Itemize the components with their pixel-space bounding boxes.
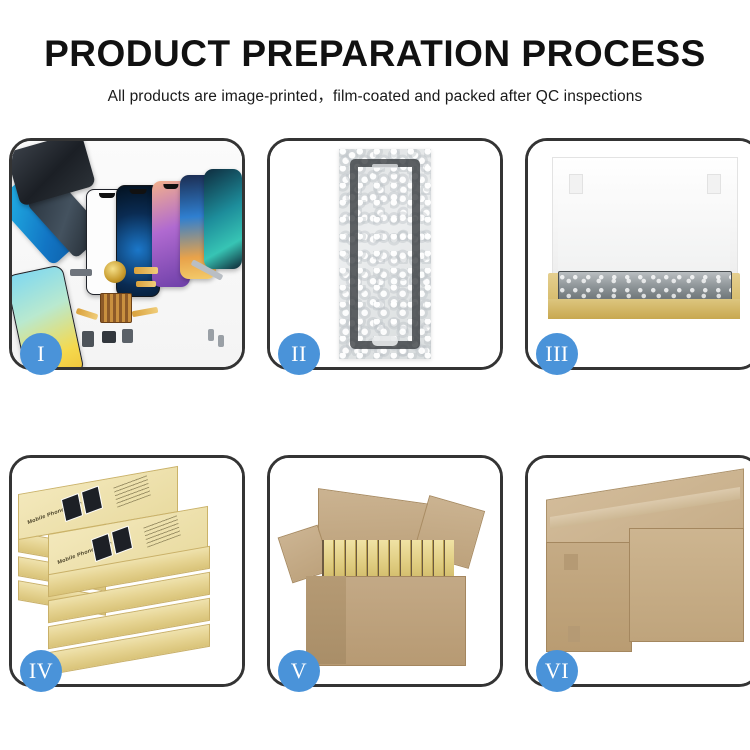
- foam-insert-icon: [558, 199, 730, 277]
- step-badge-5: V: [278, 650, 320, 692]
- screen-frame-icon: [350, 159, 420, 349]
- process-step-panel-4[interactable]: Mobile Phone Spare Parts Mobile Phone Sp…: [9, 455, 245, 687]
- camera-module-icon: [82, 331, 94, 347]
- earpiece-icon: [372, 164, 398, 168]
- bubble-wrapped-screen-icon: [339, 149, 431, 359]
- speaker-icon: [102, 331, 116, 343]
- flex-cable-icon: [136, 281, 156, 287]
- flex-cable-icon: [132, 307, 159, 317]
- box-product-photo-icon: [91, 533, 113, 562]
- box-spec-text-icon: [113, 474, 151, 507]
- screw-icon: [218, 335, 224, 347]
- process-step-panel-3[interactable]: III: [525, 138, 750, 370]
- packed-screen-icon: [558, 271, 732, 301]
- lid-tab-right-icon: [707, 174, 721, 194]
- page-title: PRODUCT PREPARATION PROCESS: [0, 34, 750, 75]
- step-badge-4: IV: [20, 650, 62, 692]
- carton-front-icon: [546, 542, 632, 652]
- notch-icon: [130, 189, 147, 194]
- kraft-box-front-icon: [548, 299, 740, 319]
- process-step-panel-6[interactable]: VI: [525, 455, 750, 687]
- flex-cable-icon: [76, 308, 99, 321]
- process-step-grid: I II: [9, 138, 741, 687]
- step-badge-1: I: [20, 333, 62, 375]
- notch-icon: [163, 184, 178, 189]
- step-badge-3: III: [536, 333, 578, 375]
- ic-chip-icon: [100, 293, 132, 323]
- home-button-icon: [372, 336, 398, 346]
- product-preparation-infographic: PRODUCT PREPARATION PROCESS All products…: [0, 0, 750, 750]
- box-product-photo-icon: [111, 525, 133, 554]
- button-part-icon: [122, 329, 133, 343]
- notch-icon: [99, 193, 115, 198]
- page-subtitle: All products are image-printed，film-coat…: [0, 84, 750, 106]
- lcd-screen-teal-icon: [204, 169, 242, 269]
- step-badge-6: VI: [536, 650, 578, 692]
- process-step-panel-1[interactable]: I: [9, 138, 245, 370]
- box-spec-text-icon: [143, 514, 181, 547]
- box-product-photo-icon: [61, 493, 83, 522]
- process-step-panel-2[interactable]: II: [267, 138, 503, 370]
- vibration-motor-icon: [104, 261, 126, 283]
- carton-seam-icon: [564, 554, 578, 570]
- process-step-panel-5[interactable]: V: [267, 455, 503, 687]
- flex-cable-icon: [134, 267, 158, 274]
- box-product-photo-icon: [81, 485, 103, 514]
- screw-icon: [208, 329, 214, 341]
- phone-housing-icon: [12, 141, 96, 207]
- step-badge-2: II: [278, 333, 320, 375]
- carton-body-side-icon: [306, 576, 346, 664]
- carton-seam-icon: [568, 626, 580, 642]
- lid-tab-left-icon: [569, 174, 583, 194]
- carton-side-icon: [629, 528, 744, 642]
- connector-icon: [70, 269, 92, 276]
- header: PRODUCT PREPARATION PROCESS All products…: [0, 34, 750, 106]
